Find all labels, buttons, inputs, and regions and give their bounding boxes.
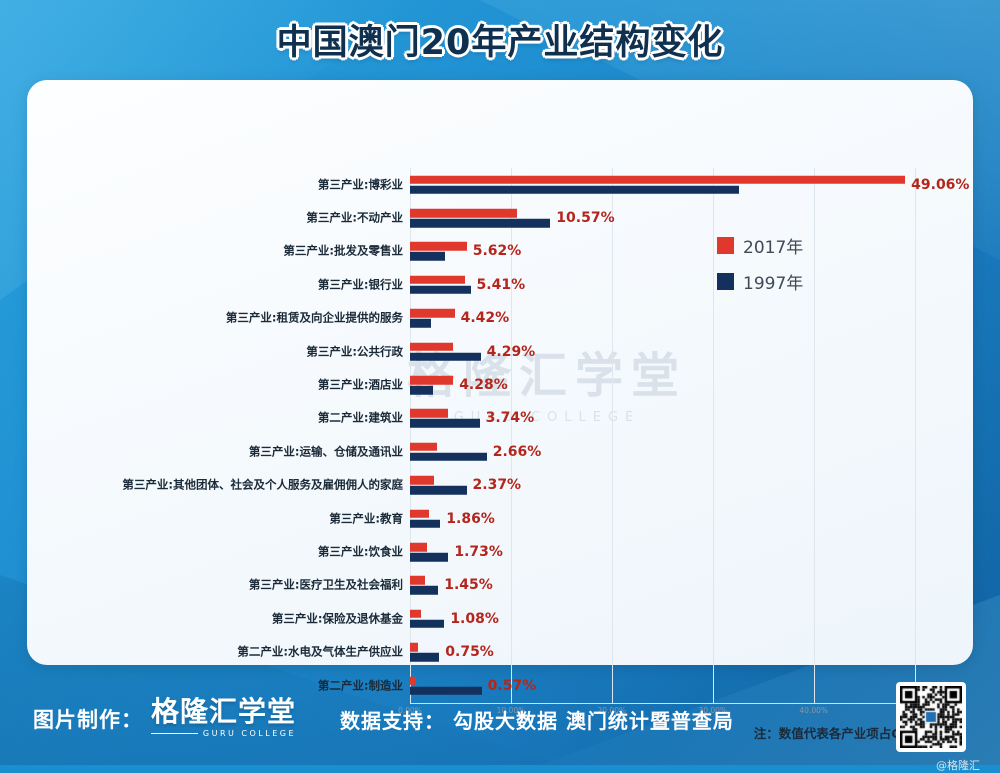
bar-row[interactable]: 第三产业:公共行政4.29% (410, 335, 955, 368)
bar-2017[interactable] (410, 543, 427, 552)
bar-1997[interactable] (410, 653, 439, 662)
bar-value-label: 5.62% (473, 243, 522, 259)
bar-row[interactable]: 第三产业:医疗卫生及社会福利1.45% (410, 569, 955, 602)
legend-swatch-2017 (717, 237, 734, 254)
bar-row[interactable]: 第三产业:教育1.86% (410, 502, 955, 535)
category-label: 第三产业:租赁及向企业提供的服务 (226, 312, 403, 325)
bar-1997[interactable] (410, 185, 739, 194)
bar-2017[interactable] (410, 376, 453, 385)
category-label: 第三产业:公共行政 (306, 345, 403, 358)
footer-brand-en: GURU COLLEGE (203, 729, 296, 738)
bar-value-label: 1.73% (454, 544, 503, 560)
bar-pair (410, 209, 955, 228)
footer-brand-cn: 格隆汇学堂 (151, 698, 296, 726)
bar-2017[interactable] (410, 610, 421, 619)
bar-row[interactable]: 第三产业:批发及零售业5.62% (410, 235, 955, 268)
bar-1997[interactable] (410, 553, 448, 562)
bar-value-label: 3.74% (486, 410, 535, 426)
bar-2017[interactable] (410, 342, 453, 351)
category-label: 第三产业:酒店业 (318, 379, 403, 392)
bar-1997[interactable] (410, 286, 471, 295)
bar-value-label: 0.75% (445, 644, 494, 660)
bar-rows: 第三产业:博彩业49.06%第三产业:不动产业10.57%第三产业:批发及零售业… (410, 168, 955, 703)
bar-1997[interactable] (410, 386, 433, 395)
category-label: 第二产业:建筑业 (318, 412, 403, 425)
footer-credit: 图片制作： 格隆汇学堂 GURU COLLEGE (33, 698, 296, 738)
chart-legend: 2017年 1997年 (717, 233, 803, 305)
bar-2017[interactable] (410, 242, 467, 251)
bar-row[interactable]: 第三产业:银行业5.41% (410, 268, 955, 301)
bar-2017[interactable] (410, 309, 455, 318)
bar-row[interactable]: 第三产业:饮食业1.73% (410, 535, 955, 568)
category-label: 第三产业:银行业 (318, 279, 403, 292)
footer-make-prefix: 图片制作： (33, 704, 143, 738)
bar-row[interactable]: 第二产业:水电及气体生产供应业0.75% (410, 636, 955, 669)
category-label: 第三产业:饮食业 (318, 546, 403, 559)
bar-1997[interactable] (410, 519, 440, 528)
bar-1997[interactable] (410, 319, 431, 328)
bar-2017[interactable] (410, 276, 465, 285)
bar-value-label: 5.41% (477, 277, 526, 293)
qr-code-icon[interactable] (896, 682, 966, 752)
bar-2017[interactable] (410, 509, 429, 518)
legend-swatch-1997 (717, 273, 734, 290)
category-label: 第三产业:批发及零售业 (283, 245, 403, 258)
watermark-handle: @格隆汇 (936, 757, 980, 773)
legend-label-1997: 1997年 (743, 269, 803, 294)
category-label: 第三产业:其他团体、社会及个人服务及雇佣佣人的家庭 (122, 479, 403, 492)
bar-1997[interactable] (410, 453, 487, 462)
bar-value-label: 4.28% (459, 377, 508, 393)
bar-row[interactable]: 第二产业:建筑业3.74% (410, 402, 955, 435)
bar-value-label: 4.42% (461, 310, 510, 326)
legend-item-1997[interactable]: 1997年 (717, 269, 803, 294)
bar-1997[interactable] (410, 252, 445, 261)
bar-row[interactable]: 第三产业:不动产业10.57% (410, 201, 955, 234)
bar-value-label: 2.37% (473, 477, 522, 493)
bar-value-label: 1.08% (450, 611, 499, 627)
footer-brand: 格隆汇学堂 GURU COLLEGE (151, 698, 296, 738)
bar-2017[interactable] (410, 209, 517, 218)
rule-line (151, 733, 198, 735)
category-label: 第三产业:保险及退休基金 (272, 613, 403, 626)
bar-1997[interactable] (410, 352, 481, 361)
bar-2017[interactable] (410, 175, 905, 184)
chart-title: 中国澳门20年产业结构变化 (0, 14, 1000, 65)
category-label: 第三产业:不动产业 (306, 212, 403, 225)
bar-1997[interactable] (410, 620, 444, 629)
bar-2017[interactable] (410, 443, 437, 452)
footer-bar: 图片制作： 格隆汇学堂 GURU COLLEGE 数据支持： 勾股大数据 澳门统… (0, 672, 1000, 765)
category-label: 第三产业:运输、仓储及通讯业 (249, 446, 403, 459)
footer-brand-rule: GURU COLLEGE (151, 729, 296, 738)
bar-2017[interactable] (410, 643, 418, 652)
bar-value-label: 1.86% (446, 511, 495, 527)
legend-item-2017[interactable]: 2017年 (717, 233, 803, 258)
bar-1997[interactable] (410, 586, 438, 595)
plot-area: 第三产业:博彩业49.06%第三产业:不动产业10.57%第三产业:批发及零售业… (410, 168, 955, 703)
bar-value-label: 10.57% (556, 210, 614, 226)
bar-1997[interactable] (410, 486, 467, 495)
legend-label-2017: 2017年 (743, 233, 803, 258)
bar-row[interactable]: 第三产业:博彩业49.06% (410, 168, 955, 201)
bar-1997[interactable] (410, 219, 550, 228)
footer-data-support: 数据支持： 勾股大数据 澳门统计暨普查局 (340, 705, 734, 734)
bar-value-label: 4.29% (487, 344, 536, 360)
bar-value-label: 49.06% (911, 177, 969, 193)
category-label: 第三产业:医疗卫生及社会福利 (249, 579, 403, 592)
bar-pair (410, 175, 955, 194)
bar-row[interactable]: 第三产业:其他团体、社会及个人服务及雇佣佣人的家庭2.37% (410, 469, 955, 502)
bar-2017[interactable] (410, 476, 434, 485)
category-label: 第三产业:教育 (329, 512, 403, 525)
chart-card: 格隆汇学堂 GURU COLLEGE 第三产业:博彩业49.06%第三产业:不动… (27, 80, 973, 665)
category-label: 第二产业:水电及气体生产供应业 (237, 646, 403, 659)
bar-value-label: 1.45% (444, 577, 493, 593)
category-label: 第三产业:博彩业 (318, 178, 403, 191)
bar-row[interactable]: 第三产业:保险及退休基金1.08% (410, 602, 955, 635)
bar-2017[interactable] (410, 576, 425, 585)
bar-row[interactable]: 第三产业:租赁及向企业提供的服务4.42% (410, 302, 955, 335)
qr-code-canvas (900, 686, 962, 748)
bar-2017[interactable] (410, 409, 448, 418)
bar-row[interactable]: 第三产业:运输、仓储及通讯业2.66% (410, 435, 955, 468)
bar-1997[interactable] (410, 419, 480, 428)
bar-value-label: 2.66% (493, 444, 542, 460)
bar-row[interactable]: 第三产业:酒店业4.28% (410, 368, 955, 401)
